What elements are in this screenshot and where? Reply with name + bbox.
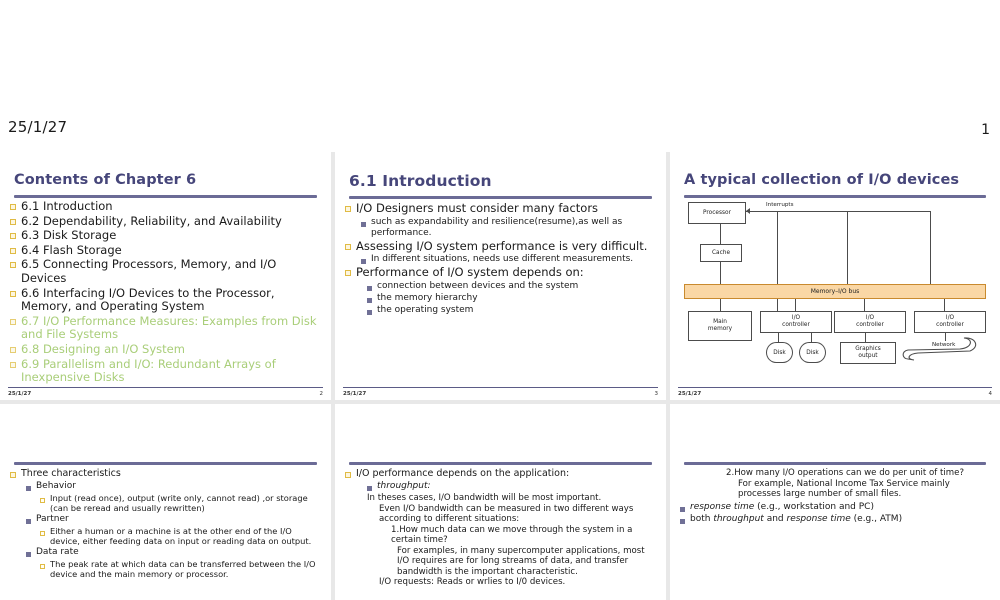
paragraph-text: For examples, in many supercomputer appl… (397, 546, 658, 578)
disk-cylinder: Disk (799, 342, 826, 363)
slide-footer-date: 25/1/27 (343, 391, 366, 397)
list-item-label: connection between devices and the syste… (377, 281, 658, 292)
bullet-square-icon (361, 222, 366, 227)
list-item-label: Data rate (36, 547, 323, 558)
io-controller-box: I/O controller (914, 311, 986, 333)
header-page-number: 1 (981, 122, 990, 138)
bullet-square-icon (367, 298, 372, 303)
bus-ioc1-line (777, 299, 778, 311)
bullet-square-icon (361, 259, 366, 264)
slide-footer-rule (343, 387, 658, 388)
main-memory-box: Main memory (688, 311, 752, 341)
processor-box: Processor (688, 202, 746, 224)
title-underline (684, 195, 986, 198)
list-item-label: Partner (36, 514, 323, 525)
bullet-square-icon (10, 219, 16, 225)
bullet-square-icon (345, 206, 351, 212)
slide-introduction[interactable]: 6.1 Introduction I/O Designers must cons… (335, 152, 666, 400)
list-item: 6.9 Parallelism and I/O: Redundant Array… (10, 358, 323, 385)
document-header: 25/1/27 1 (0, 0, 1000, 152)
io-operations-list: 2.How many I/O operations can we do per … (680, 468, 992, 526)
list-item: connection between devices and the syste… (367, 281, 658, 292)
paragraph-text: 2.How many I/O operations can we do per … (726, 468, 992, 479)
paragraph-text: In theses cases, I/O bandwidth will be m… (367, 493, 658, 504)
bullet-square-icon (367, 286, 372, 291)
list-item-label: 6.3 Disk Storage (21, 229, 323, 243)
paragraph-text: Even I/O bandwidth can be measured in tw… (379, 504, 658, 525)
title-underline (349, 462, 652, 465)
bullet-square-icon (10, 233, 16, 239)
list-item: 6.1 Introduction (10, 200, 323, 214)
slide-introduction-list: I/O Designers must consider many factors… (345, 202, 658, 317)
interrupt-drop-3 (930, 211, 931, 284)
slide-contents[interactable]: Contents of Chapter 6 6.1 Introduction 6… (0, 152, 331, 400)
list-item-label: 6.6 Interfacing I/O Devices to the Proce… (21, 287, 323, 314)
list-item-label: Input (read once), output (write only, c… (50, 493, 323, 513)
bus-ioc3-line (944, 299, 945, 311)
bus-ioc1b-line (795, 299, 796, 311)
list-item: In different situations, needs use diffe… (361, 254, 658, 265)
slide-footer-rule (8, 387, 323, 388)
list-item: 6.6 Interfacing I/O Devices to the Proce… (10, 287, 323, 314)
list-item: Behavior (26, 481, 323, 492)
list-item-label: Three characteristics (21, 468, 323, 480)
list-item: 6.2 Dependability, Reliability, and Avai… (10, 215, 323, 229)
slide-contents-title: Contents of Chapter 6 (14, 172, 317, 188)
slide-footer-number: 3 (655, 391, 659, 397)
bullet-square-icon (40, 498, 45, 503)
list-item-label: 6.1 Introduction (21, 200, 323, 214)
list-item: 6.4 Flash Storage (10, 244, 323, 258)
interrupt-drop-2 (847, 211, 848, 284)
cache-box: Cache (700, 244, 742, 262)
list-item-label: the operating system (377, 305, 658, 316)
list-item: 6.3 Disk Storage (10, 229, 323, 243)
io-performance-list: I/O performance depends on the applicati… (345, 468, 658, 588)
list-item: The peak rate at which data can be trans… (40, 559, 323, 579)
list-item: I/O performance depends on the applicati… (345, 468, 658, 480)
list-item: such as expandability and resilience(res… (361, 217, 658, 239)
list-item: Performance of I/O system depends on: (345, 266, 658, 280)
io-controller-box: I/O controller (760, 311, 832, 333)
list-item-label: response time (e.g., workstation and PC) (690, 502, 992, 513)
list-item-label: 6.7 I/O Performance Measures: Examples f… (21, 315, 323, 342)
slide-footer-date: 25/1/27 (8, 391, 31, 397)
disk-cylinder: Disk (766, 342, 793, 363)
slide-introduction-body: 6.1 Introduction I/O Designers must cons… (335, 152, 666, 400)
list-item-label: In different situations, needs use diffe… (371, 254, 658, 265)
slide-contents-body: Contents of Chapter 6 6.1 Introduction 6… (0, 152, 331, 400)
list-item-label: 6.2 Dependability, Reliability, and Avai… (21, 215, 323, 229)
list-item-label: 6.9 Parallelism and I/O: Redundant Array… (21, 358, 323, 385)
list-item: I/O Designers must consider many factors (345, 202, 658, 216)
network-cloud-icon (900, 335, 992, 365)
slide-footer-number: 2 (320, 391, 324, 397)
bullet-square-icon (345, 472, 351, 478)
list-item: response time (e.g., workstation and PC) (680, 502, 992, 513)
bullet-square-icon (680, 507, 685, 512)
bullet-square-icon (367, 310, 372, 315)
slide-io-performance[interactable]: I/O performance depends on the applicati… (335, 404, 666, 600)
list-item-label: 6.8 Designing an I/O System (21, 343, 323, 357)
list-item: Either a human or a machine is at the ot… (40, 526, 323, 546)
bullet-square-icon (367, 486, 372, 491)
interrupts-line (746, 211, 931, 212)
bullet-square-icon (26, 486, 31, 491)
bullet-square-icon (10, 262, 16, 268)
paragraph-text: I/O requests: Reads or wrlies to I/0 dev… (379, 577, 658, 588)
io-devices-diagram: Processor Interrupts Cache Memory–I/O bu… (682, 200, 988, 350)
bullet-square-icon (10, 347, 16, 353)
network-label: Network (932, 342, 955, 348)
list-item: both throughput and response time (e.g.,… (680, 514, 992, 525)
slide-introduction-title: 6.1 Introduction (349, 172, 652, 190)
bullet-square-icon (40, 564, 45, 569)
bullet-square-icon (10, 472, 16, 478)
three-characteristics-list: Three characteristics Behavior Input (re… (10, 468, 323, 580)
bullet-square-icon (10, 291, 16, 297)
bus-ioc2-line (864, 299, 865, 311)
bullet-square-icon (10, 204, 16, 210)
title-underline (684, 462, 986, 465)
slide-io-devices-body: A typical collection of I/O devices Proc… (670, 152, 1000, 400)
interrupts-label: Interrupts (766, 202, 794, 208)
list-item: 6.8 Designing an I/O System (10, 343, 323, 357)
paragraph-text: 1.How much data can we move through the … (391, 525, 658, 546)
slide-footer-date: 25/1/27 (678, 391, 701, 397)
bullet-square-icon (345, 244, 351, 250)
slide-io-operations[interactable]: 2.How many I/O operations can we do per … (670, 404, 1000, 600)
list-item: Data rate (26, 547, 323, 558)
bullet-square-icon (680, 519, 685, 524)
title-underline (14, 462, 317, 465)
bullet-square-icon (10, 362, 16, 368)
list-item-label: The peak rate at which data can be trans… (50, 559, 323, 579)
list-item-label: such as expandability and resilience(res… (371, 217, 658, 239)
list-item: Partner (26, 514, 323, 525)
list-item-label: Assessing I/O system performance is very… (356, 240, 658, 254)
list-item-label: 6.4 Flash Storage (21, 244, 323, 258)
list-item: Input (read once), output (write only, c… (40, 493, 323, 513)
bullet-square-icon (10, 319, 16, 325)
list-item-label: Either a human or a machine is at the ot… (50, 526, 323, 546)
io-controller-box: I/O controller (834, 311, 906, 333)
paragraph-text: For example, National Income Tax Service… (738, 479, 992, 500)
header-date: 25/1/27 (8, 118, 67, 136)
list-item-label: throughput: (377, 481, 658, 492)
list-item: Three characteristics (10, 468, 323, 480)
bullet-square-icon (26, 552, 31, 557)
memory-io-bus: Memory–I/O bus (684, 284, 986, 299)
bullet-square-icon (10, 248, 16, 254)
list-item: throughput: (367, 481, 658, 492)
bullet-square-icon (26, 519, 31, 524)
cache-bus-line (720, 262, 721, 284)
interrupts-arrow-icon (746, 208, 750, 214)
title-underline (14, 195, 317, 198)
bullet-square-icon (40, 531, 45, 536)
bullet-square-icon (345, 270, 351, 276)
slide-io-operations-body: 2.How many I/O operations can we do per … (670, 404, 1000, 600)
interrupt-drop-1 (777, 211, 778, 284)
list-item: 6.7 I/O Performance Measures: Examples f… (10, 315, 323, 342)
list-item-label: the memory hierarchy (377, 293, 658, 304)
list-item-label: 6.5 Connecting Processors, Memory, and I… (21, 258, 323, 285)
slide-io-performance-body: I/O performance depends on the applicati… (335, 404, 666, 600)
list-item: the memory hierarchy (367, 293, 658, 304)
list-item-label: I/O performance depends on the applicati… (356, 468, 658, 480)
list-item-label: Behavior (36, 481, 323, 492)
slide-io-devices-title: A typical collection of I/O devices (684, 172, 986, 188)
list-item-label: both throughput and response time (e.g.,… (690, 514, 992, 525)
processor-cache-line (720, 224, 721, 244)
bus-mainmem-line (720, 299, 721, 311)
list-item: the operating system (367, 305, 658, 316)
slide-io-devices[interactable]: A typical collection of I/O devices Proc… (670, 152, 1000, 400)
slide-grid: Contents of Chapter 6 6.1 Introduction 6… (0, 152, 1000, 600)
slide-footer-rule (678, 387, 992, 388)
slide-footer-number: 4 (989, 391, 993, 397)
list-item-label: Performance of I/O system depends on: (356, 266, 658, 280)
list-item: 6.5 Connecting Processors, Memory, and I… (10, 258, 323, 285)
slide-contents-list: 6.1 Introduction 6.2 Dependability, Reli… (10, 200, 323, 386)
title-underline (349, 196, 652, 199)
slide-handout-page: 25/1/27 1 Contents of Chapter 6 6.1 Intr… (0, 0, 1000, 600)
graphics-output-box: Graphics output (840, 342, 896, 364)
list-item: Assessing I/O system performance is very… (345, 240, 658, 254)
slide-three-characteristics-body: Three characteristics Behavior Input (re… (0, 404, 331, 600)
list-item-label: I/O Designers must consider many factors (356, 202, 658, 216)
slide-three-characteristics[interactable]: Three characteristics Behavior Input (re… (0, 404, 331, 600)
